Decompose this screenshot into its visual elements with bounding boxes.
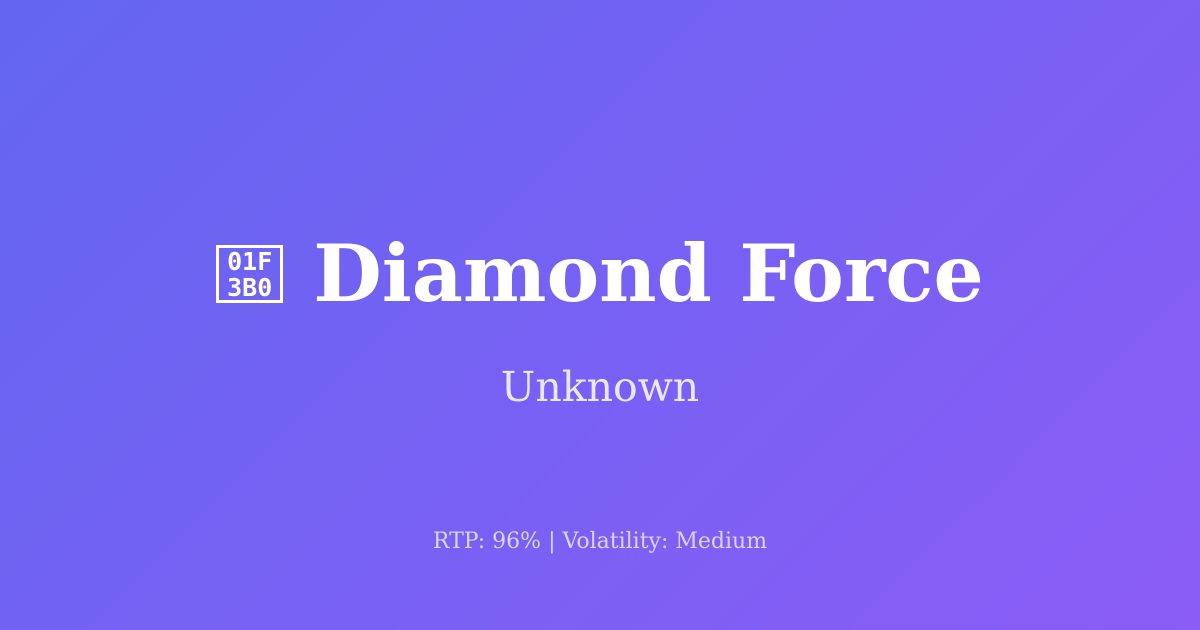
title-row: 01F 3B0 Diamond Force	[0, 232, 1200, 316]
game-title: Diamond Force	[313, 232, 984, 316]
game-provider-subtitle: Unknown	[0, 363, 1200, 411]
tofu-codepoint-top: 01F	[227, 249, 272, 275]
game-preview-card: 01F 3B0 Diamond Force Unknown RTP: 96% |…	[0, 0, 1200, 630]
game-meta-line: RTP: 96% | Volatility: Medium	[0, 528, 1200, 556]
slot-machine-emoji-icon: 01F 3B0	[216, 245, 283, 303]
tofu-codepoint-bottom: 3B0	[227, 275, 272, 301]
